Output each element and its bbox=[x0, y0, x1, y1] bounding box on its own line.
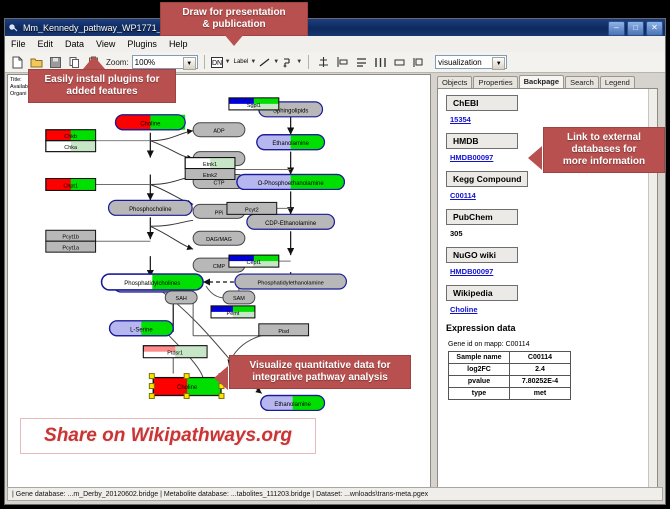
open-folder-icon[interactable] bbox=[28, 54, 44, 70]
svg-text:Pcyt2: Pcyt2 bbox=[245, 207, 259, 213]
gene-pcyt1b-pcyt1a[interactable]: Pcyt1b Pcyt1a bbox=[46, 230, 96, 252]
zoom-value: 100% bbox=[135, 58, 155, 67]
db-header-hmdb: HMDB bbox=[446, 133, 518, 149]
callout-link-line3: more information bbox=[550, 156, 658, 168]
db-header-kegg: Kegg Compound bbox=[446, 171, 528, 187]
svg-text:Phosphatidylcholines: Phosphatidylcholines bbox=[124, 281, 180, 287]
svg-text:SAH: SAH bbox=[176, 296, 187, 302]
svg-text:Ethanolamine: Ethanolamine bbox=[274, 402, 311, 408]
svg-text:DAG/MAG: DAG/MAG bbox=[206, 237, 232, 243]
svg-text:L-Serine: L-Serine bbox=[130, 327, 153, 333]
distribute-icon[interactable] bbox=[372, 54, 388, 70]
db-link-wikipedia[interactable]: Choline bbox=[450, 305, 657, 314]
zoom-label: Zoom: bbox=[106, 58, 129, 67]
svg-text:Phosphocholine: Phosphocholine bbox=[129, 207, 172, 213]
menu-item-view[interactable]: View bbox=[90, 39, 121, 49]
callout-visualize-arrow bbox=[214, 366, 228, 390]
node-cdp-ethanolamine[interactable]: CDP-Ethanolamine bbox=[247, 214, 335, 229]
align-center-icon[interactable] bbox=[315, 54, 331, 70]
expr-label-sample: Sample name bbox=[449, 352, 510, 364]
svg-text:CMP: CMP bbox=[213, 264, 226, 270]
gene-pisd[interactable]: Pisd bbox=[259, 324, 309, 336]
minimize-button[interactable]: – bbox=[608, 21, 625, 36]
status-bar-text: | Gene database: ...m_Derby_20120602.bri… bbox=[12, 491, 428, 498]
toolbar-separator bbox=[308, 55, 309, 69]
svg-text:Ptdsr1: Ptdsr1 bbox=[167, 351, 183, 357]
table-row: type met bbox=[449, 388, 571, 400]
align-left-icon[interactable] bbox=[334, 54, 350, 70]
node-sah[interactable]: SAH bbox=[165, 291, 197, 304]
svg-text:PPi: PPi bbox=[215, 210, 224, 216]
svg-text:Choline: Choline bbox=[177, 385, 198, 391]
svg-text:O-Phosphoethanolamine: O-Phosphoethanolamine bbox=[258, 181, 325, 187]
node-phosphocholine[interactable]: Phosphocholine bbox=[109, 200, 193, 215]
chevron-down-icon[interactable]: ▼ bbox=[225, 59, 231, 65]
svg-text:Cept1: Cept1 bbox=[247, 260, 262, 266]
db-link-chebi[interactable]: 15354 bbox=[450, 115, 657, 124]
menu-item-edit[interactable]: Edit bbox=[32, 39, 60, 49]
node-phosphatidylcholines[interactable]: Phosphatidylcholines bbox=[102, 274, 204, 290]
tab-properties[interactable]: Properties bbox=[473, 76, 517, 88]
pathvisio-icon bbox=[9, 23, 19, 33]
svg-text:Pisd: Pisd bbox=[278, 329, 289, 335]
line-tool[interactable]: ▼ bbox=[259, 57, 279, 68]
table-row: pvalue 7.80252E-4 bbox=[449, 376, 571, 388]
node-phosphatidylethanolamine[interactable]: Phosphatidylethanolamine bbox=[235, 274, 346, 289]
gene-chpt1[interactable]: Chpt1 bbox=[46, 179, 96, 191]
callout-plugins: Easily install plugins for added feature… bbox=[28, 69, 176, 103]
toolbar-separator bbox=[204, 55, 205, 69]
svg-text:Pcyt1b: Pcyt1b bbox=[62, 235, 79, 241]
edge-atp bbox=[150, 141, 193, 159]
new-file-icon[interactable] bbox=[9, 54, 25, 70]
close-button[interactable]: ✕ bbox=[646, 21, 663, 36]
svg-text:CDP-Ethanolamine: CDP-Ethanolamine bbox=[265, 221, 317, 227]
gene-sgpl1[interactable]: Sgpl1 bbox=[229, 98, 279, 110]
svg-text:Sgpl1: Sgpl1 bbox=[247, 103, 261, 109]
callout-link-line1: Link to external bbox=[550, 132, 658, 144]
expr-value-type: met bbox=[510, 388, 571, 400]
copy-icon[interactable] bbox=[66, 54, 82, 70]
menu-item-file[interactable]: File bbox=[5, 39, 32, 49]
db-link-nugo[interactable]: HMDB00097 bbox=[450, 267, 657, 276]
callout-link-line2: databases for bbox=[550, 144, 658, 156]
datanode-tool[interactable]: DN ▼ bbox=[211, 57, 231, 68]
table-row: log2FC 2.4 bbox=[449, 364, 571, 376]
db-header-nugo: NuGO wiki bbox=[446, 247, 518, 263]
callout-draw: Draw for presentation & publication bbox=[160, 2, 308, 36]
chevron-down-icon[interactable]: ▼ bbox=[273, 59, 279, 65]
svg-text:Pemt: Pemt bbox=[227, 311, 240, 317]
expression-data-heading: Expression data bbox=[446, 323, 657, 333]
node-dagmag[interactable]: DAG/MAG bbox=[193, 231, 245, 245]
expr-label-log2fc: log2FC bbox=[449, 364, 510, 376]
save-icon[interactable] bbox=[47, 54, 63, 70]
gene-ptdsr1[interactable]: Ptdsr1 bbox=[143, 346, 207, 358]
chevron-down-icon[interactable]: ▼ bbox=[296, 59, 302, 65]
svg-text:Phosphatidylethanolamine: Phosphatidylethanolamine bbox=[257, 281, 323, 287]
group-icon[interactable] bbox=[391, 54, 407, 70]
expr-label-pvalue: pvalue bbox=[449, 376, 510, 388]
maximize-button[interactable]: □ bbox=[627, 21, 644, 36]
db-header-pubchem: PubChem bbox=[446, 209, 518, 225]
menu-item-data[interactable]: Data bbox=[59, 39, 90, 49]
callout-draw-line2: & publication bbox=[167, 19, 301, 31]
tab-search[interactable]: Search bbox=[565, 76, 599, 88]
share-banner-text: Share on Wikipathways.org bbox=[44, 425, 292, 446]
visualization-value: visualization bbox=[438, 58, 482, 67]
chevron-down-icon[interactable]: ▼ bbox=[250, 59, 256, 65]
node-ethanolamine-top[interactable]: Ethanolamine bbox=[257, 135, 325, 150]
svg-text:DN: DN bbox=[212, 60, 222, 67]
svg-text:ADP: ADP bbox=[213, 129, 225, 135]
node-o-phosphoethanolamine[interactable]: O-Phosphoethanolamine bbox=[237, 175, 344, 190]
svg-text:Etnk1: Etnk1 bbox=[203, 162, 217, 168]
share-banner: Share on Wikipathways.org bbox=[20, 418, 316, 454]
zoom-combo[interactable]: 100% ▼ bbox=[132, 55, 198, 69]
table-row: Sample name C00114 bbox=[449, 352, 571, 364]
gene-chkb-chka[interactable]: Chkb Chka bbox=[46, 130, 96, 152]
gene-cept1[interactable]: Cept1 bbox=[229, 255, 279, 267]
menu-item-help[interactable]: Help bbox=[163, 39, 194, 49]
shape-tool[interactable]: ▼ bbox=[282, 57, 302, 68]
gene-pemt[interactable]: Pemt bbox=[211, 306, 255, 318]
stack-icon[interactable] bbox=[353, 54, 369, 70]
tab-backpage[interactable]: Backpage bbox=[519, 75, 564, 88]
tab-objects[interactable]: Objects bbox=[437, 76, 472, 88]
callout-draw-arrow bbox=[223, 33, 245, 46]
edge-cmp bbox=[150, 226, 193, 249]
label-tool-text: Label bbox=[234, 59, 249, 65]
visualization-combo[interactable]: visualization ▼ bbox=[435, 55, 507, 69]
order-icon[interactable] bbox=[410, 54, 426, 70]
node-sam[interactable]: SAM bbox=[223, 291, 255, 304]
gene-pcyt2[interactable]: Pcyt2 bbox=[227, 202, 277, 214]
node-choline-selected[interactable]: Choline bbox=[149, 374, 224, 399]
svg-text:Chkb: Chkb bbox=[64, 134, 77, 140]
window-controls: – □ ✕ bbox=[608, 21, 663, 36]
expression-table: Sample name C00114 log2FC 2.4 pvalue 7.8… bbox=[448, 351, 571, 400]
gene-id-line: Gene id on mapp: C00114 bbox=[448, 341, 657, 348]
label-tool[interactable]: Label ▼ bbox=[234, 59, 257, 65]
db-header-wikipedia: Wikipedia bbox=[446, 285, 518, 301]
callout-plugins-arrow bbox=[83, 56, 105, 69]
callout-visualize-line2: integrative pathway analysis bbox=[236, 372, 404, 384]
node-adp[interactable]: ADP bbox=[193, 123, 245, 137]
svg-text:Etnk2: Etnk2 bbox=[203, 173, 217, 179]
chevron-down-icon[interactable]: ▼ bbox=[492, 57, 505, 70]
node-l-serine-left[interactable]: L-Serine bbox=[110, 321, 174, 336]
svg-text:Pcyt1a: Pcyt1a bbox=[62, 246, 80, 252]
callout-visualize: Visualize quantitative data for integrat… bbox=[229, 355, 411, 389]
db-value-pubchem: 305 bbox=[450, 229, 657, 238]
svg-text:Chpt1: Chpt1 bbox=[63, 183, 78, 189]
callout-link: Link to external databases for more info… bbox=[543, 127, 665, 173]
expr-label-type: type bbox=[449, 388, 510, 400]
callout-plugins-line2: added features bbox=[35, 86, 169, 98]
db-header-chebi: ChEBI bbox=[446, 95, 518, 111]
callout-draw-line1: Draw for presentation bbox=[167, 7, 301, 19]
svg-text:CTP: CTP bbox=[214, 180, 225, 186]
title-bar: Mm_Kennedy_pathway_WP1771_45176.gpml – □… bbox=[5, 19, 665, 36]
menu-item-plugins[interactable]: Plugins bbox=[121, 39, 163, 49]
edge-dagmag bbox=[150, 220, 193, 226]
tab-legend[interactable]: Legend bbox=[600, 76, 635, 88]
expr-value-pvalue: 7.80252E-4 bbox=[510, 376, 571, 388]
menu-bar: File Edit Data View Plugins Help bbox=[5, 36, 665, 53]
db-link-kegg[interactable]: C00114 bbox=[450, 191, 657, 200]
callout-visualize-line1: Visualize quantitative data for bbox=[236, 360, 404, 372]
svg-text:Choline: Choline bbox=[140, 121, 161, 127]
chevron-down-icon[interactable]: ▼ bbox=[183, 57, 196, 70]
expr-value-log2fc: 2.4 bbox=[510, 364, 571, 376]
callout-link-arrow bbox=[528, 146, 542, 170]
status-bar: | Gene database: ...m_Derby_20120602.bri… bbox=[7, 487, 663, 501]
side-panel-tabs: Objects Properties Backpage Search Legen… bbox=[433, 74, 636, 88]
gene-etnk1-etnk2[interactable]: Etnk1 Etnk2 bbox=[185, 158, 235, 180]
screenshot-root: Mm_Kennedy_pathway_WP1771_45176.gpml – □… bbox=[0, 0, 670, 509]
svg-text:SAM: SAM bbox=[233, 296, 245, 302]
svg-text:Ethanolamine: Ethanolamine bbox=[272, 141, 309, 147]
svg-text:Chka: Chka bbox=[64, 145, 78, 151]
node-choline-top[interactable]: Choline bbox=[115, 115, 185, 130]
expr-value-sample: C00114 bbox=[510, 352, 571, 364]
edge-adp bbox=[150, 131, 193, 141]
callout-plugins-line1: Easily install plugins for bbox=[35, 74, 169, 86]
node-ethanolamine-bottom[interactable]: Ethanolamine bbox=[261, 395, 325, 410]
